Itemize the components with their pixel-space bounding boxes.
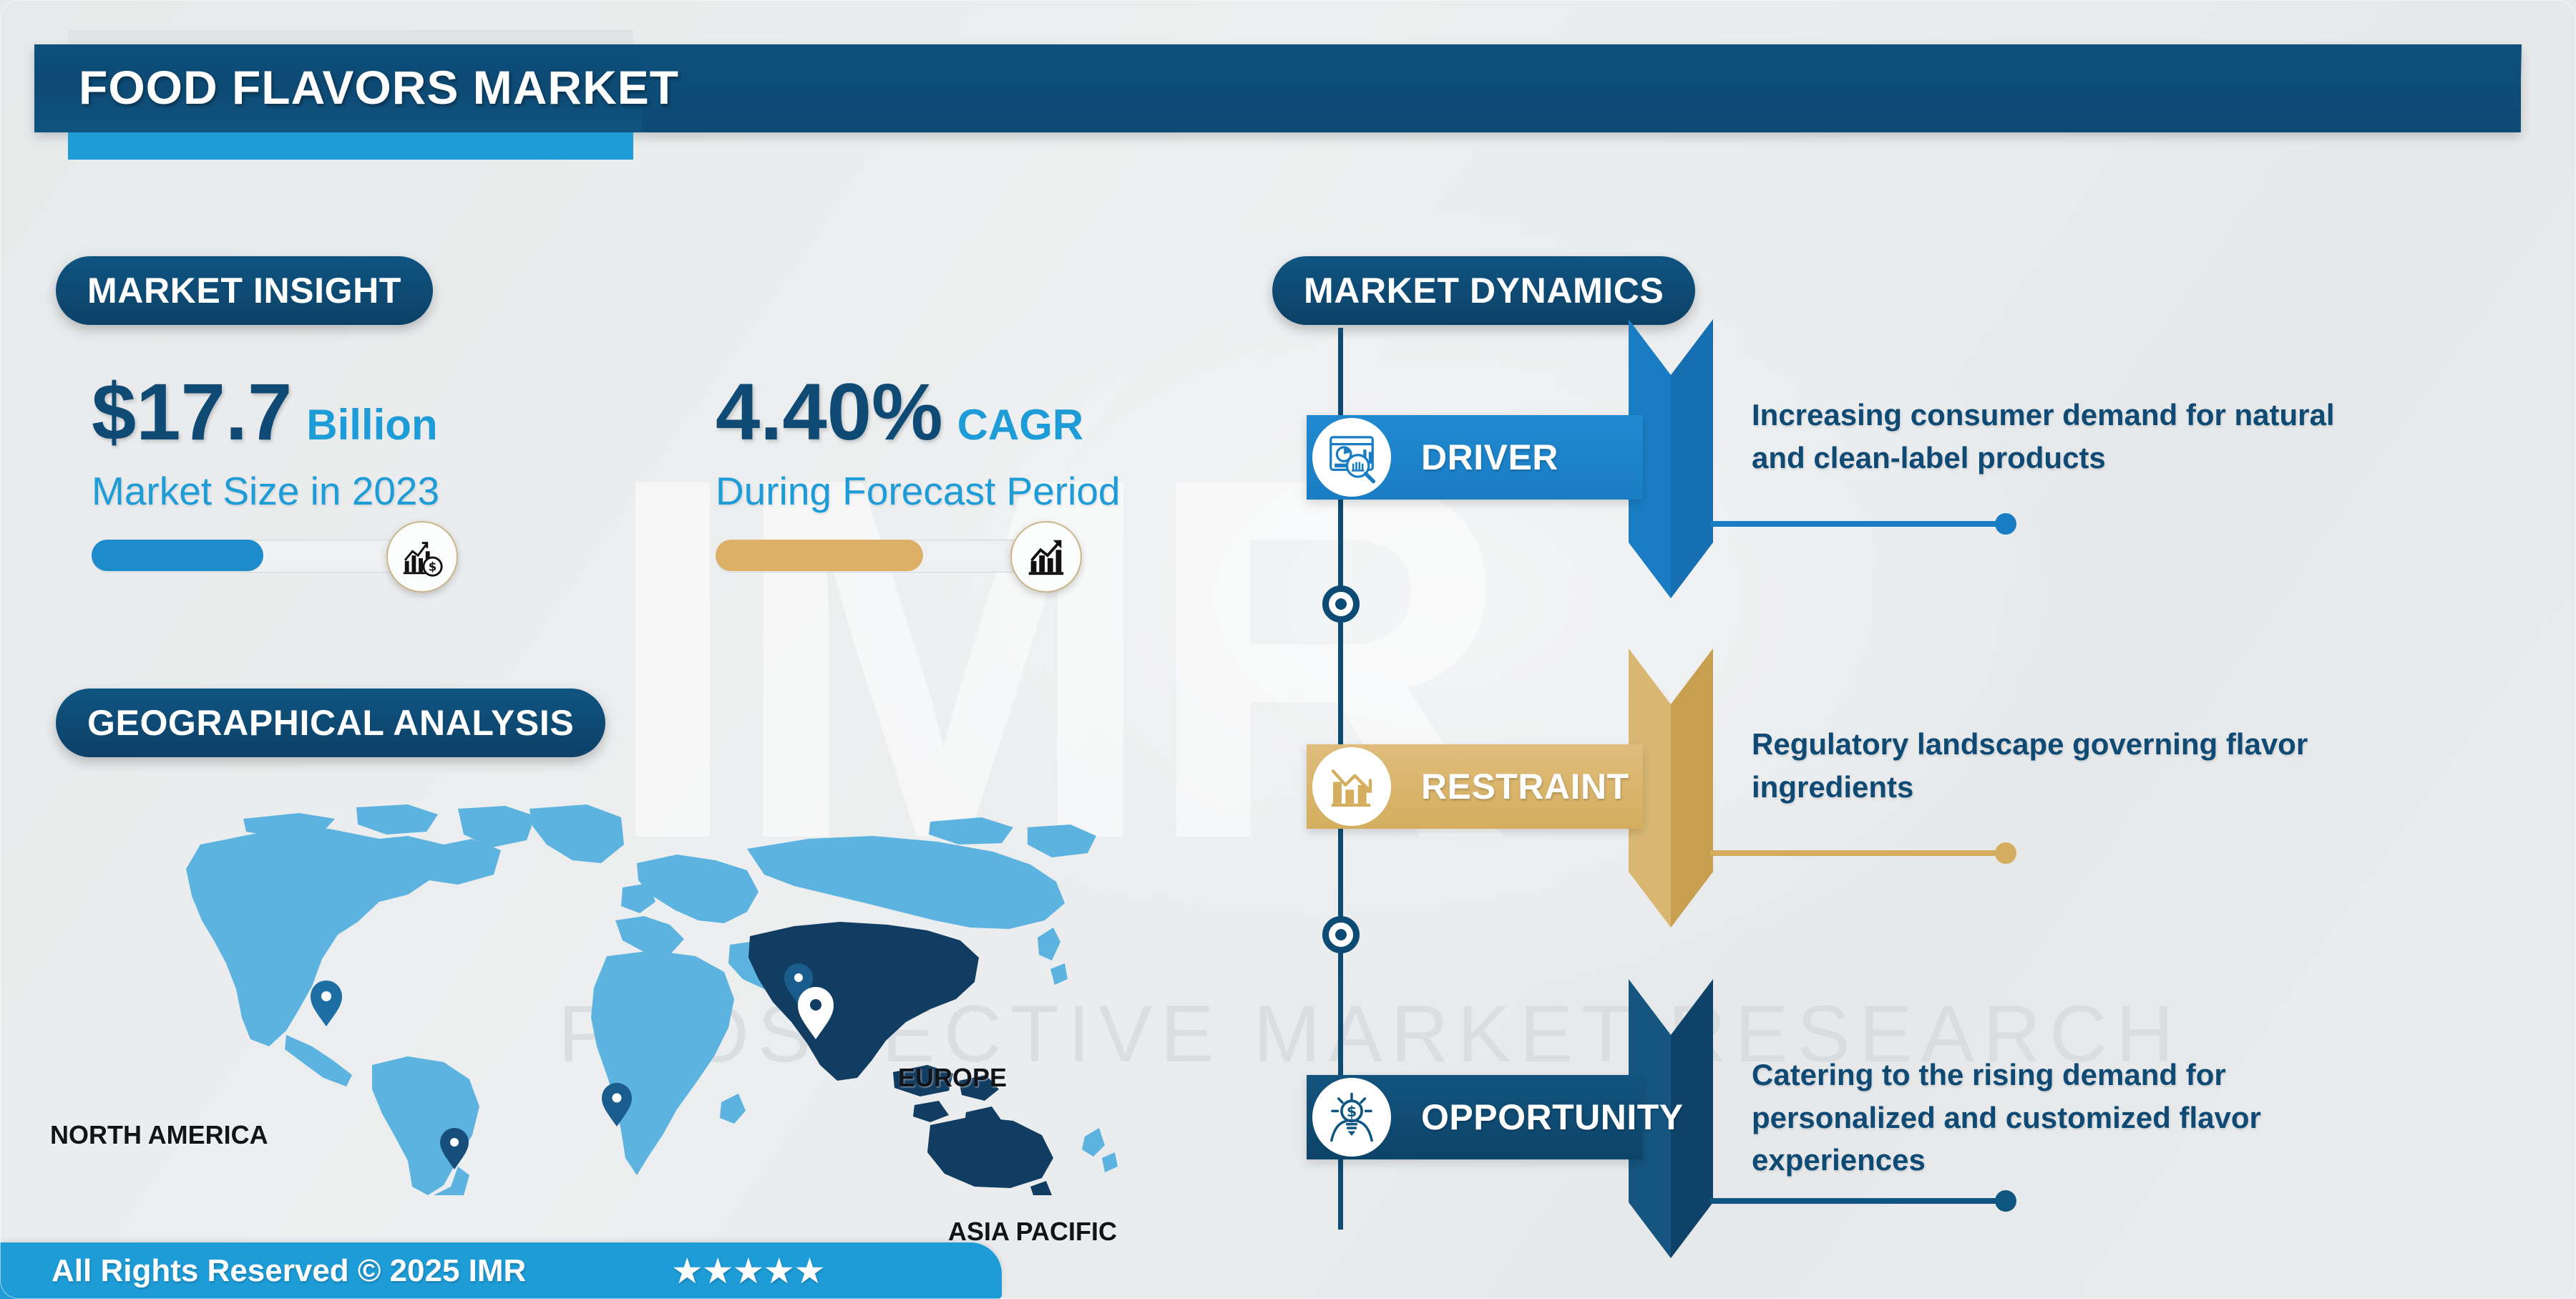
metric-caption: During Forecast Period <box>716 468 1121 514</box>
lightbulb-dollar-icon: $ <box>1312 1078 1391 1157</box>
metric-number: 4.40% <box>716 372 943 452</box>
rating-stars: ★★★★★ <box>671 1250 824 1292</box>
metric-cagr: 4.40% CAGR During Forecast Period <box>716 372 1121 571</box>
metric-market-size: $17.7 Billion Market Size in 2023 <box>92 372 449 571</box>
driver-label: DRIVER <box>1421 437 1558 478</box>
pill-label: MARKET INSIGHT <box>87 270 401 311</box>
dynamics-row-restraint: RESTRAINT Regulatory landscape governing… <box>1272 680 2553 895</box>
metric-value-row: $17.7 Billion <box>92 372 449 452</box>
footer-copyright: All Rights Reserved © 2025 IMR <box>52 1253 526 1289</box>
market-dynamics-timeline: DRIVER Increasing consumer demand for na… <box>1272 315 2553 1260</box>
pill-label: GEOGRAPHICAL ANALYSIS <box>87 702 574 744</box>
bar-chart-dollar-icon: $ <box>386 521 458 593</box>
metric-unit: Billion <box>306 404 437 447</box>
driver-description: Increasing consumer demand for natural a… <box>1752 394 2381 479</box>
pill-label: MARKET DYNAMICS <box>1304 270 1664 311</box>
map-landmasses-highlight-asia-pacific <box>748 922 1053 1195</box>
progress-fill <box>92 540 263 571</box>
driver-connector-line <box>1710 521 2005 527</box>
svg-text:$: $ <box>429 560 436 573</box>
section-heading-market-insight: MARKET INSIGHT <box>56 256 433 325</box>
opportunity-connector-line <box>1710 1198 2005 1204</box>
metric-value-row: 4.40% CAGR <box>716 372 1121 452</box>
infographic-canvas: IMR PROSPECTIVE MARKET RESEARCH FOOD FLA… <box>0 0 2576 1299</box>
header: FOOD FLAVORS MARKET <box>0 0 2576 229</box>
opportunity-label: OPPORTUNITY <box>1421 1096 1684 1138</box>
dynamics-row-driver: DRIVER Increasing consumer demand for na… <box>1272 351 2553 565</box>
progress-fill <box>716 540 923 571</box>
timeline-node-1 <box>1322 585 1360 623</box>
map-label-europe: EUROPE <box>898 1063 1007 1093</box>
header-blue-underbar <box>68 132 633 160</box>
metric-unit: CAGR <box>957 404 1084 447</box>
analytics-dashboard-search-icon <box>1312 418 1391 497</box>
metric-progress-bar: $ <box>92 540 449 571</box>
restraint-connector-line <box>1710 850 2005 856</box>
footer-bar: All Rights Reserved © 2025 IMR ★★★★★ <box>0 1242 1002 1299</box>
map-pin-north-america <box>311 981 342 1026</box>
svg-text:$: $ <box>1347 1103 1357 1120</box>
metric-caption: Market Size in 2023 <box>92 468 449 514</box>
dynamics-row-opportunity: $ OPPORTUNITY <box>1272 1011 2553 1225</box>
metric-number: $17.7 <box>92 372 292 452</box>
section-heading-geographical-analysis: GEOGRAPHICAL ANALYSIS <box>56 689 605 757</box>
driver-connector-dot <box>1995 513 2016 535</box>
page-title: FOOD FLAVORS MARKET <box>79 54 679 122</box>
opportunity-connector-dot <box>1995 1190 2016 1212</box>
restraint-label: RESTRAINT <box>1421 766 1629 807</box>
opportunity-band[interactable]: $ OPPORTUNITY <box>1307 1075 1643 1159</box>
world-map: NORTH AMERICA SOUTH AMERICA EUROPE ASIA … <box>72 794 1131 1195</box>
restraint-description: Regulatory landscape governing flavor in… <box>1752 723 2381 808</box>
restraint-connector-dot <box>1995 842 2016 864</box>
declining-bar-chart-icon <box>1312 747 1391 826</box>
metric-progress-bar <box>716 540 1073 571</box>
header-navy-band-skew <box>642 44 2522 132</box>
driver-band[interactable]: DRIVER <box>1307 415 1643 500</box>
opportunity-description: Catering to the rising demand for person… <box>1752 1054 2381 1182</box>
timeline-node-2 <box>1322 916 1360 953</box>
restraint-band[interactable]: RESTRAINT <box>1307 744 1643 829</box>
growth-arrow-chart-icon <box>1010 521 1082 593</box>
map-label-north-america: NORTH AMERICA <box>50 1120 268 1150</box>
